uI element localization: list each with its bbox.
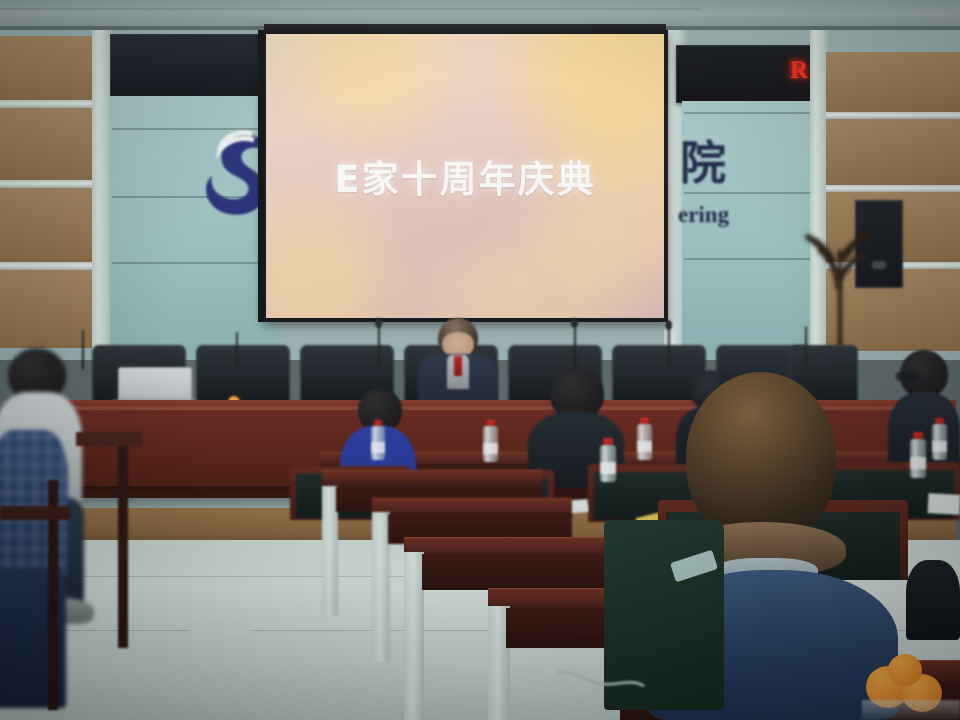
wall-wood-panel xyxy=(0,188,96,262)
wall-sign-english: ering xyxy=(678,203,729,226)
wall-metal-strip xyxy=(826,185,960,192)
wall-metal-strip xyxy=(0,180,96,188)
orange-fruit xyxy=(888,654,922,686)
wall-metal-strip xyxy=(0,100,96,108)
teal-wall-groove xyxy=(684,258,812,260)
paper-sheet xyxy=(927,493,960,515)
bottle-cap xyxy=(603,438,613,445)
teal-wall-groove xyxy=(112,262,278,264)
bench-rail xyxy=(0,506,70,520)
table-microphone xyxy=(668,324,670,368)
bottle-label xyxy=(600,462,616,474)
screen-edge-left xyxy=(258,30,264,322)
teal-wall-groove xyxy=(684,192,812,194)
oranges-on-desk xyxy=(862,648,960,720)
water-bottle xyxy=(932,418,947,460)
ceiling-seam-upper xyxy=(0,8,700,10)
audience-desk-top xyxy=(322,470,542,487)
led-glyph: R xyxy=(790,58,808,83)
foreground-attendee-head xyxy=(686,372,836,542)
cable-icon xyxy=(556,668,646,694)
led-display-board[interactable]: R xyxy=(676,45,820,103)
wall-sign-chinese: 院 xyxy=(680,140,726,186)
wall-wood-panel xyxy=(0,36,96,100)
microphone-head xyxy=(375,318,382,328)
wall-pillar-left xyxy=(92,30,112,360)
bottle-label xyxy=(483,443,498,454)
wrapper-sheet xyxy=(862,700,960,720)
wall-metal-strip xyxy=(826,112,960,119)
teal-wall-groove xyxy=(684,112,812,114)
water-bottle xyxy=(910,432,926,478)
conference-hall-photo: R 院 ering E家十周年庆典 xyxy=(0,0,960,720)
wall-metal-strip xyxy=(0,262,96,270)
bottle-label xyxy=(371,442,385,453)
glasses-icon xyxy=(896,372,918,381)
bench-rail xyxy=(76,432,142,446)
water-bottle xyxy=(600,438,616,482)
bottle-label xyxy=(932,441,947,452)
decorative-plant xyxy=(800,228,870,292)
executive-chair[interactable] xyxy=(196,345,290,403)
wall-wood-panel xyxy=(826,52,960,112)
cable xyxy=(556,668,646,694)
wall-wood-panel xyxy=(0,108,96,180)
table-microphone xyxy=(378,322,380,366)
wall-dark-header-left xyxy=(110,34,282,98)
floor-highlight xyxy=(190,622,250,634)
desk-leg-panel xyxy=(404,552,424,720)
wall-wood-panel xyxy=(826,119,960,185)
head-table-speaker xyxy=(418,318,498,402)
microphone-head xyxy=(571,318,578,328)
attendee-silhouette xyxy=(906,560,960,640)
table-microphone xyxy=(236,332,238,368)
water-bottle xyxy=(483,420,498,462)
dried-plant-icon xyxy=(800,228,870,292)
attendee-plaid-shirt xyxy=(0,430,70,720)
water-bottle xyxy=(371,420,385,460)
desk-leg xyxy=(118,438,128,648)
speaker-driver xyxy=(872,261,886,269)
slide-title: E家十周年庆典 xyxy=(266,158,664,202)
bottle-cap xyxy=(913,432,923,439)
projection-screen[interactable]: E家十周年庆典 xyxy=(266,34,664,318)
speaker-necktie xyxy=(454,356,462,376)
table-microphone xyxy=(805,326,807,366)
table-microphone xyxy=(574,322,576,368)
microphone-head xyxy=(665,320,672,330)
bottle-label xyxy=(910,457,926,469)
